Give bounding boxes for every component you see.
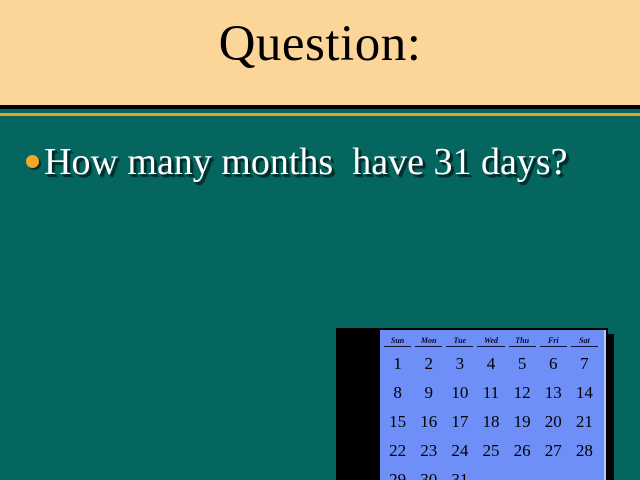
calendar-week-row: 29 30 31 [382,468,600,480]
calendar-day-cell: 26 [507,439,538,463]
calendar-day-header: Sun [384,336,411,347]
calendar-day-cell-empty [538,468,569,480]
calendar-image: 2005 Sun Mon Tue Wed Thu Fri Sat [336,328,608,480]
calendar-day-cell: 19 [507,410,538,434]
calendar-week-row: 15 16 17 18 19 20 21 [382,410,600,434]
calendar-day-cell-empty [569,468,600,480]
calendar-day-cell: 17 [444,410,475,434]
slide-canvas: Question: How many months have 31 days? … [0,0,640,480]
calendar-day-cell: 27 [538,439,569,463]
calendar-day-cell: 6 [538,352,569,376]
calendar-day-cell: 13 [538,381,569,405]
calendar-day-header: Fri [540,336,567,347]
calendar-day-cell: 3 [444,352,475,376]
calendar-day-cell: 24 [444,439,475,463]
calendar-day-cell: 11 [475,381,506,405]
calendar-day-header: Mon [415,336,442,347]
calendar-week-row: 8 9 10 11 12 13 14 [382,381,600,405]
calendar-page: Sun Mon Tue Wed Thu Fri Sat 1 2 3 [380,330,606,480]
calendar-day-cell: 31 [444,468,475,480]
page-title: Question: [0,12,640,76]
slide-header-band: Question: [0,0,640,105]
calendar-day-cell: 7 [569,352,600,376]
calendar-day-cell: 9 [413,381,444,405]
calendar-day-cell: 8 [382,381,413,405]
bullet-dot-icon [26,155,39,168]
calendar-day-cell: 4 [475,352,506,376]
calendar-day-cell: 29 [382,468,413,480]
calendar-day-cell: 18 [475,410,506,434]
calendar-day-cell: 5 [507,352,538,376]
calendar-day-cell: 10 [444,381,475,405]
calendar-day-cell: 14 [569,381,600,405]
calendar-day-cell: 30 [413,468,444,480]
calendar-day-cell: 20 [538,410,569,434]
calendar-day-cell-empty [507,468,538,480]
calendar-day-cell-empty [475,468,506,480]
calendar-day-cell: 2 [413,352,444,376]
calendar-day-cell: 12 [507,381,538,405]
bullet-item-label: How many months have 31 days? [44,140,567,184]
calendar-day-cell: 21 [569,410,600,434]
calendar-day-cell: 28 [569,439,600,463]
calendar-day-header: Thu [509,336,536,347]
calendar-day-cell: 25 [475,439,506,463]
slide-body: How many months have 31 days? 2005 Sun M… [0,116,640,480]
calendar-day-cell: 15 [382,410,413,434]
calendar-spine: 2005 [336,328,380,480]
calendar-day-header: Tue [446,336,473,347]
calendar-day-header: Wed [477,336,504,347]
calendar-day-header: Sat [571,336,598,347]
calendar-grid: Sun Mon Tue Wed Thu Fri Sat 1 2 3 [382,336,600,480]
calendar-day-cell: 22 [382,439,413,463]
calendar-header-row: Sun Mon Tue Wed Thu Fri Sat [382,336,600,347]
calendar-day-cell: 16 [413,410,444,434]
calendar-week-row: 22 23 24 25 26 27 28 [382,439,600,463]
calendar-day-cell: 23 [413,439,444,463]
calendar-week-row: 1 2 3 4 5 6 7 [382,352,600,376]
bullet-list-item: How many months have 31 days? [26,140,626,184]
calendar-frame: 2005 Sun Mon Tue Wed Thu Fri Sat [336,328,608,480]
calendar-day-cell: 1 [382,352,413,376]
